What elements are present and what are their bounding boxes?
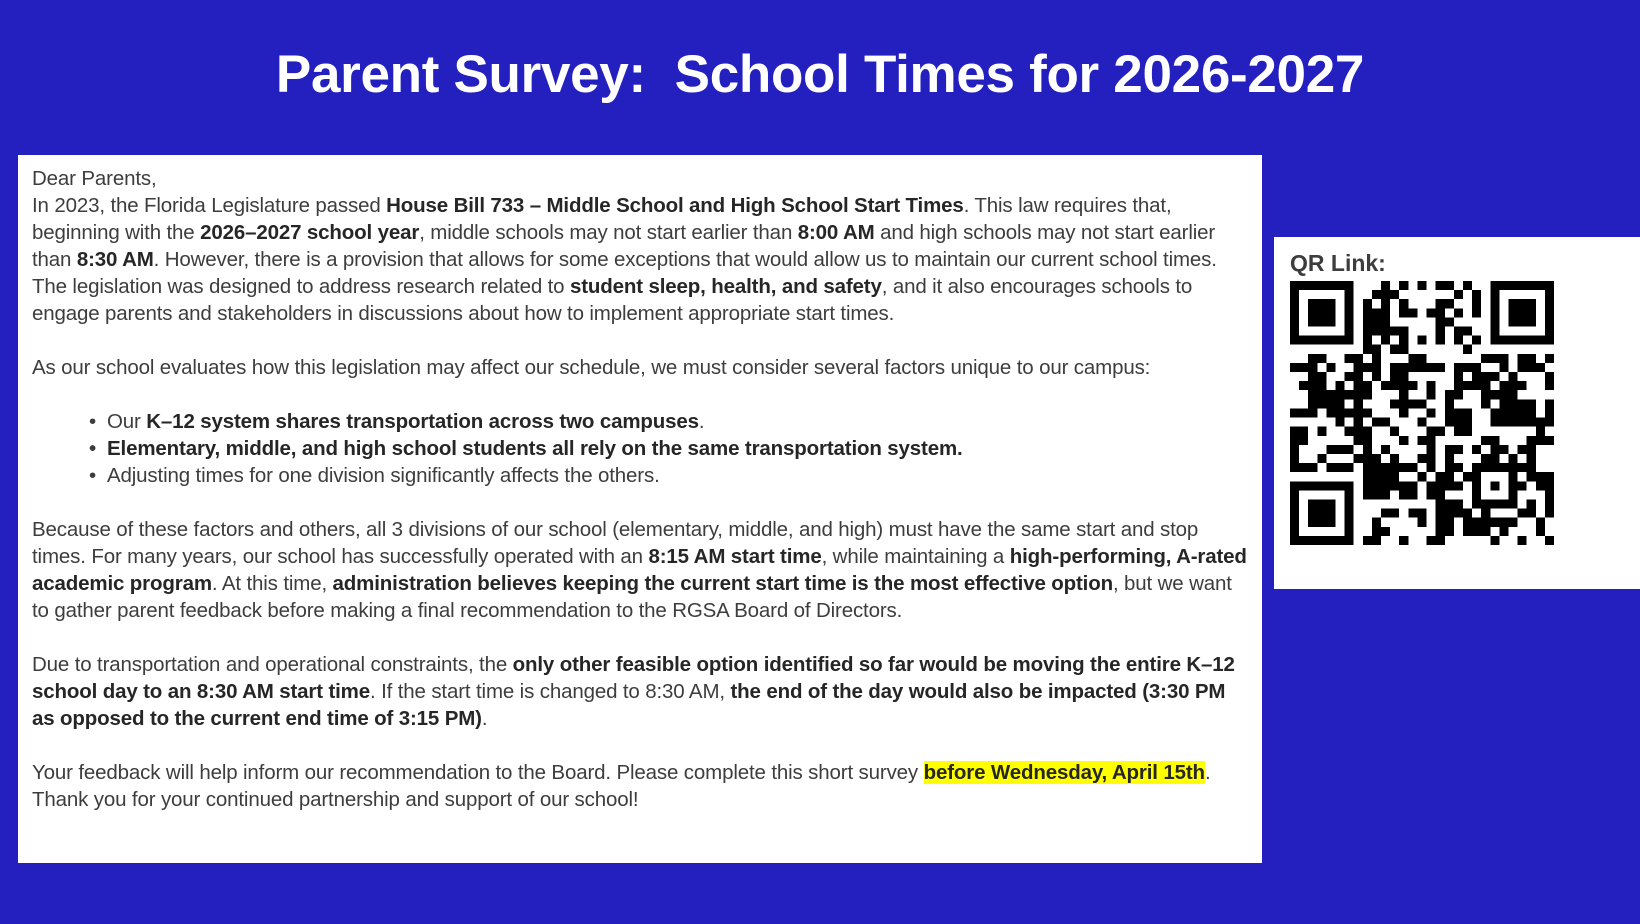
letter-panel: Dear Parents, In 2023, the Florida Legis… [18, 155, 1262, 863]
body-text: . At this time, [212, 572, 333, 595]
emphasis-text: administration believes keeping the curr… [333, 572, 1113, 595]
body-text: . [1205, 761, 1211, 784]
letter-body: Dear Parents, In 2023, the Florida Legis… [32, 165, 1248, 813]
factor-list-item: Our K–12 system shares transportation ac… [89, 408, 1248, 435]
body-text: , middle schools may not start earlier t… [419, 221, 798, 244]
page-title-bar: Parent Survey: School Times for 2026-202… [0, 44, 1640, 105]
emphasis-text: 2026–2027 school year [200, 221, 419, 244]
page-title: Parent Survey: School Times for 2026-202… [0, 44, 1640, 105]
paragraph-spacer [32, 732, 1248, 759]
body-text: , while maintaining a [822, 545, 1010, 568]
paragraph-spacer [32, 381, 1248, 408]
factors-list: Our K–12 system shares transportation ac… [32, 408, 1248, 489]
body-text: Due to transportation and operational co… [32, 653, 513, 676]
emphasis-text: 8:00 AM [798, 221, 875, 244]
highlighted-deadline: before Wednesday, April 15th [924, 761, 1205, 784]
letter-paragraph-3: Because of these factors and others, all… [32, 516, 1248, 624]
letter-closing: Thank you for your continued partnership… [32, 786, 1248, 813]
factor-list-item: Elementary, middle, and high school stud… [89, 435, 1248, 462]
emphasis-text: 8:30 AM [77, 248, 154, 271]
body-text: Your feedback will help inform our recom… [32, 761, 924, 784]
body-text: . [482, 707, 488, 730]
body-text: Our [107, 410, 146, 433]
qr-code-icon[interactable] [1290, 281, 1554, 545]
letter-paragraph-5-deadline: Your feedback will help inform our recom… [32, 759, 1248, 786]
body-text: Adjusting times for one division signifi… [107, 464, 660, 487]
paragraph-spacer [32, 327, 1248, 354]
letter-paragraph-4: Due to transportation and operational co… [32, 651, 1248, 732]
paragraph-spacer [32, 624, 1248, 651]
body-text: . [699, 410, 705, 433]
body-text: . If the start time is changed to 8:30 A… [370, 680, 730, 703]
paragraph-spacer [32, 489, 1248, 516]
qr-link-label: QR Link: [1290, 249, 1640, 277]
letter-paragraph-1: In 2023, the Florida Legislature passed … [32, 192, 1248, 327]
qr-link-panel: QR Link: [1274, 237, 1640, 589]
emphasis-text: K–12 system shares transportation across… [146, 410, 699, 433]
emphasis-text: House Bill 733 – Middle School and High … [386, 194, 964, 217]
letter-paragraph-2: As our school evaluates how this legisla… [32, 354, 1248, 381]
emphasis-text: student sleep, health, and safety [570, 275, 882, 298]
emphasis-text: 8:15 AM start time [648, 545, 821, 568]
body-text: In 2023, the Florida Legislature passed [32, 194, 386, 217]
letter-salutation: Dear Parents, [32, 165, 1248, 192]
factor-list-item: Adjusting times for one division signifi… [89, 462, 1248, 489]
body-text: As our school evaluates how this legisla… [32, 356, 1150, 379]
